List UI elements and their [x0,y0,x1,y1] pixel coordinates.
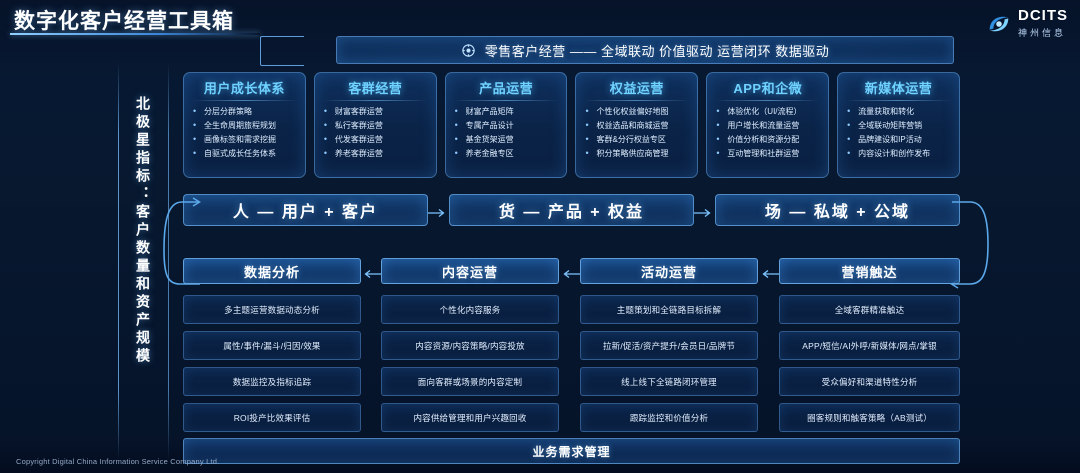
card-item: 流量获取和转化 [844,105,953,119]
card-title: 权益运营 [582,78,691,100]
matrix-cell[interactable]: 多主题运营数据动态分析 [183,295,361,324]
matrix-cell[interactable]: 内容资源/内容策略/内容投放 [381,331,559,360]
section-header-label: 活动运营 [641,262,697,281]
bottom-bar-label: 业务需求管理 [532,443,610,460]
card-item: 权益选品和商城运营 [582,119,691,133]
capability-card-row: 用户成长体系 分层分群策略 全生命周期旅程规划 画像标签和需求挖掘 自驱式成长任… [183,72,960,178]
card-divider [192,100,297,101]
matrix-column: 多主题运营数据动态分析 属性/事件/漏斗/归因/效果 数据监控及指标追踪 ROI… [183,295,361,439]
target-lock-icon [461,43,476,58]
brand-logo: DCITS 神州信息 [986,8,1068,40]
card-item: 财富客群运营 [321,105,430,119]
flow-bar-people[interactable]: 人 — 用户 + 客户 [183,194,428,226]
matrix-cell[interactable]: APP/短信/AI外呼/新媒体/网点/掌银 [779,331,960,360]
matrix-cell[interactable]: 跟踪监控和价值分析 [580,403,758,432]
card-item-list: 流量获取和转化 全域联动矩阵营销 品牌建设和IP活动 内容设计和创作发布 [844,105,953,161]
card-item: 积分策略供应商管理 [582,147,691,161]
left-rail-line-outer [118,62,119,460]
matrix-cell[interactable]: 线上线下全链路闭环管理 [580,367,758,396]
card-title: APP和企微 [713,78,822,100]
dcits-swirl-icon [986,11,1012,37]
matrix-column: 主题策划和全链路目标拆解 拉新/促活/资产提升/会员日/品牌节 线上线下全链路闭… [580,295,758,439]
capability-card[interactable]: 权益运营 个性化权益偏好地图 权益选品和商城运营 客群&分行权益专区 积分策略供… [575,72,698,178]
capability-card[interactable]: APP和企微 体验优化（UI/流程） 用户增长和流量运营 价值分析和资源分配 互… [706,72,829,178]
matrix-cell[interactable]: ROI投产比效果评估 [183,403,361,432]
banner-text: 零售客户经营 —— 全域联动 价值驱动 运营闭环 数据驱动 [485,41,830,60]
card-title: 新媒体运营 [844,78,953,100]
card-item: 代发客群运营 [321,133,430,147]
arrow-right-icon [694,205,715,215]
card-item: 全生命周期旅程规划 [190,119,299,133]
card-item-list: 个性化权益偏好地图 权益选品和商城运营 客群&分行权益专区 积分策略供应商管理 [582,105,691,161]
section-header-content-ops[interactable]: 内容运营 [381,258,559,284]
card-item: 分层分群策略 [190,105,299,119]
north-star-label: 北极星指标：客户数量和资产规模 [126,96,160,436]
title-underline [10,33,260,35]
card-item: 全域联动矩阵营销 [844,119,953,133]
card-title: 产品运营 [452,78,561,100]
card-item: 基金货架运营 [452,133,561,147]
card-item: 体验优化（UI/流程） [713,105,822,119]
section-header-campaign-ops[interactable]: 活动运营 [580,258,758,284]
capability-matrix: 多主题运营数据动态分析 属性/事件/漏斗/归因/效果 数据监控及指标追踪 ROI… [183,295,960,432]
card-item: 内容设计和创作发布 [844,147,953,161]
bottom-bar-business-demand[interactable]: 业务需求管理 [183,438,960,464]
arrow-left-icon [759,266,779,276]
card-item: 品牌建设和IP活动 [844,133,953,147]
banner-left-bracket [260,36,304,66]
header-bar: 数字化客户经营工具箱 DCITS 神州信息 [0,0,1080,34]
matrix-cell[interactable]: 拉新/促活/资产提升/会员日/品牌节 [580,331,758,360]
card-divider [846,100,951,101]
section-header-label: 营销触达 [841,262,897,281]
capability-card[interactable]: 产品运营 财富产品矩阵 专属产品设计 基金货架运营 养老金融专区 [445,72,568,178]
card-item: 养老金融专区 [452,147,561,161]
card-item: 财富产品矩阵 [452,105,561,119]
section-header-marketing-reach[interactable]: 营销触达 [779,258,960,284]
card-item: 个性化权益偏好地图 [582,105,691,119]
card-item: 私行客群运营 [321,119,430,133]
logo-text-en: DCITS [1018,7,1068,24]
card-item: 客群&分行权益专区 [582,133,691,147]
matrix-cell[interactable]: 全域客群精准触达 [779,295,960,324]
card-item: 画像标签和需求挖掘 [190,133,299,147]
section-header-label: 内容运营 [442,262,498,281]
north-star-label-text: 北极星指标：客户数量和资产规模 [133,96,153,366]
flow-bar-row: 人 — 用户 + 客户 货 — 产品 + 权益 场 — 私域 + 公域 [183,194,960,226]
page-title: 数字化客户经营工具箱 [14,5,234,35]
capability-card[interactable]: 用户成长体系 分层分群策略 全生命周期旅程规划 画像标签和需求挖掘 自驱式成长任… [183,72,306,178]
card-title: 客群经营 [321,78,430,100]
card-item-list: 分层分群策略 全生命周期旅程规划 画像标签和需求挖掘 自驱式成长任务体系 [190,105,299,161]
matrix-cell[interactable]: 受众偏好和渠道特性分析 [779,367,960,396]
matrix-cell[interactable]: 属性/事件/漏斗/归因/效果 [183,331,361,360]
arrow-left-icon [560,266,580,276]
strategy-banner: 零售客户经营 —— 全域联动 价值驱动 运营闭环 数据驱动 [336,36,954,64]
card-item-list: 体验优化（UI/流程） 用户增长和流量运营 价值分析和资源分配 互动管理和社群运… [713,105,822,161]
matrix-cell[interactable]: 内容供给管理和用户兴趣回收 [381,403,559,432]
card-item: 用户增长和流量运营 [713,119,822,133]
card-divider [715,100,820,101]
section-header-row: 数据分析 内容运营 活动运营 营销触达 [183,258,960,284]
card-item: 养老客群运营 [321,147,430,161]
card-item: 互动管理和社群运营 [713,147,822,161]
card-title: 用户成长体系 [190,78,299,100]
matrix-cell[interactable]: 面向客群或场景的内容定制 [381,367,559,396]
card-item: 价值分析和资源分配 [713,133,822,147]
card-item-list: 财富产品矩阵 专属产品设计 基金货架运营 养老金融专区 [452,105,561,161]
flow-bar-place[interactable]: 场 — 私域 + 公域 [715,194,960,226]
flow-bar-label: 场 — 私域 + 公域 [765,198,910,222]
flow-bar-label: 货 — 产品 + 权益 [499,198,644,222]
card-divider [584,100,689,101]
left-rail-line-inner [168,62,169,460]
matrix-cell[interactable]: 圈客规则和触客策略（AB测试） [779,403,960,432]
flow-bar-goods[interactable]: 货 — 产品 + 权益 [449,194,694,226]
matrix-cell[interactable]: 主题策划和全链路目标拆解 [580,295,758,324]
capability-card[interactable]: 新媒体运营 流量获取和转化 全域联动矩阵营销 品牌建设和IP活动 内容设计和创作… [837,72,960,178]
logo-text-cn: 神州信息 [1018,28,1066,38]
copyright-text: Copyright Digital China Information Serv… [16,457,219,466]
matrix-column: 个性化内容服务 内容资源/内容策略/内容投放 面向客群或场景的内容定制 内容供给… [381,295,559,439]
logo-wordmark: DCITS 神州信息 [1018,8,1068,40]
slide-canvas: 数字化客户经营工具箱 DCITS 神州信息 [0,0,1080,473]
section-header-data-analysis[interactable]: 数据分析 [183,258,361,284]
card-item: 专属产品设计 [452,119,561,133]
card-item-list: 财富客群运营 私行客群运营 代发客群运营 养老客群运营 [321,105,430,161]
card-item: 自驱式成长任务体系 [190,147,299,161]
section-header-label: 数据分析 [244,262,300,281]
matrix-column: 全域客群精准触达 APP/短信/AI外呼/新媒体/网点/掌银 受众偏好和渠道特性… [779,295,960,439]
arrow-right-icon [428,205,449,215]
flow-bar-label: 人 — 用户 + 客户 [233,198,378,222]
capability-card[interactable]: 客群经营 财富客群运营 私行客群运营 代发客群运营 养老客群运营 [314,72,437,178]
card-divider [323,100,428,101]
matrix-cell[interactable]: 数据监控及指标追踪 [183,367,361,396]
card-divider [454,100,559,101]
matrix-cell[interactable]: 个性化内容服务 [381,295,559,324]
arrow-left-icon [361,266,381,276]
